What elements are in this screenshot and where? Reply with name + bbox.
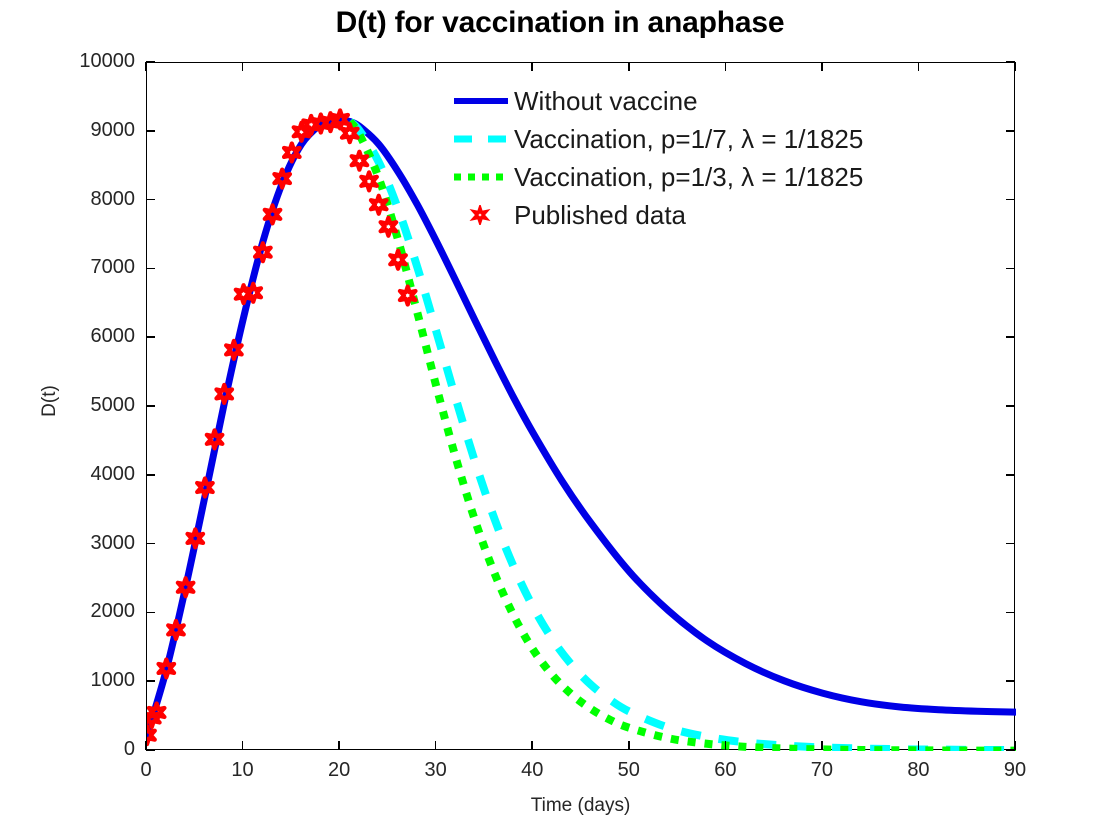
chart-legend: Without vaccine Vaccination, p=1/7, λ = … <box>452 82 1012 234</box>
y-tickmark-right <box>1006 612 1015 614</box>
x-tick-label: 90 <box>975 760 1055 780</box>
x-tick-label: 40 <box>492 760 572 780</box>
legend-item-published-data[interactable]: Published data <box>452 196 1012 234</box>
y-tickmark <box>146 199 155 201</box>
x-tickmark <box>242 741 244 750</box>
y-tickmark <box>146 336 155 338</box>
y-axis-label: D(t) <box>39 346 61 456</box>
x-tick-label: 80 <box>878 760 958 780</box>
y-tickmark-right <box>1006 268 1015 270</box>
legend-item-vaccination-p17[interactable]: Vaccination, p=1/7, λ = 1/1825 <box>452 120 1012 158</box>
x-tick-label: 10 <box>203 760 283 780</box>
x-tickmark-top <box>242 62 244 71</box>
y-tickmark-right <box>1006 336 1015 338</box>
figure-canvas: D(t) for vaccination in anaphase 0100020… <box>0 0 1120 840</box>
y-tickmark-right <box>1006 680 1015 682</box>
y-tickmark-right <box>1006 405 1015 407</box>
x-tick-label: 0 <box>106 760 186 780</box>
published-data-markers <box>147 110 415 744</box>
x-tickmark-top <box>435 62 437 71</box>
legend-key-hexagram-marker-icon <box>452 205 514 225</box>
x-tickmark <box>1014 741 1016 750</box>
legend-key-solid-line-icon <box>452 91 514 111</box>
x-tickmark <box>918 741 920 750</box>
y-tickmark <box>146 130 155 132</box>
x-tickmark-top <box>338 62 340 71</box>
legend-item-vaccination-p13[interactable]: Vaccination, p=1/3, λ = 1/1825 <box>452 158 1012 196</box>
x-tick-label: 20 <box>299 760 379 780</box>
x-tickmark <box>725 741 727 750</box>
x-tick-label: 50 <box>589 760 669 780</box>
y-tick-label: 2000 <box>25 601 135 621</box>
x-tickmark-top <box>918 62 920 71</box>
y-tickmark <box>146 405 155 407</box>
y-tick-label: 6000 <box>25 326 135 346</box>
y-tickmark <box>146 543 155 545</box>
x-tick-label: 30 <box>396 760 476 780</box>
page-title: D(t) for vaccination in anaphase <box>0 6 1120 40</box>
y-tick-label: 3000 <box>25 533 135 553</box>
y-tickmark-right <box>1006 543 1015 545</box>
x-tickmark-top <box>145 62 147 71</box>
x-tickmark <box>338 741 340 750</box>
x-tickmark <box>435 741 437 750</box>
x-tickmark-top <box>628 62 630 71</box>
x-tickmark <box>821 741 823 750</box>
x-axis-label: Time (days) <box>146 795 1015 817</box>
legend-label-1: Vaccination, p=1/7, λ = 1/1825 <box>514 126 863 152</box>
x-tickmark <box>531 741 533 750</box>
y-tickmark <box>146 680 155 682</box>
y-tick-label: 8000 <box>25 189 135 209</box>
y-tickmark <box>146 749 155 751</box>
legend-item-without-vaccine[interactable]: Without vaccine <box>452 82 1012 120</box>
x-tick-label: 60 <box>685 760 765 780</box>
x-tick-label: 70 <box>782 760 862 780</box>
x-tickmark <box>145 741 147 750</box>
legend-label-2: Vaccination, p=1/3, λ = 1/1825 <box>514 164 863 190</box>
y-tick-label: 7000 <box>25 257 135 277</box>
x-tickmark-top <box>1014 62 1016 71</box>
y-tickmark <box>146 474 155 476</box>
legend-label-0: Without vaccine <box>514 88 698 114</box>
y-tick-label: 1000 <box>25 670 135 690</box>
x-tickmark-top <box>531 62 533 71</box>
y-tickmark-right <box>1006 474 1015 476</box>
y-tick-label: 4000 <box>25 464 135 484</box>
data-point-marker <box>361 172 377 190</box>
x-tickmark-top <box>725 62 727 71</box>
legend-label-3: Published data <box>514 202 686 228</box>
y-tick-label: 9000 <box>25 120 135 140</box>
y-tickmark <box>146 612 155 614</box>
x-tickmark <box>628 741 630 750</box>
y-tickmark <box>146 61 155 63</box>
legend-key-dashed-line-icon <box>452 129 514 149</box>
y-tick-label: 10000 <box>25 51 135 71</box>
y-tickmark <box>146 268 155 270</box>
legend-key-dotted-line-icon <box>452 167 514 187</box>
x-tickmark-top <box>821 62 823 71</box>
y-tick-label: 0 <box>25 739 135 759</box>
